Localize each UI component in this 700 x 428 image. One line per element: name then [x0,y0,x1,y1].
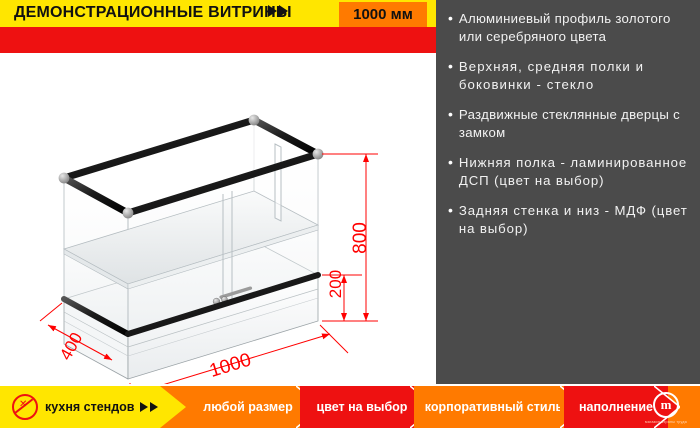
ribbon-label: корпоративный стиль [425,400,563,414]
logo-caption: магазин охраны труда [645,420,687,424]
dim-height-label: 800 [350,222,371,254]
list-item: • Задняя стенка и низ - МДФ (цвет на выб… [448,202,690,237]
size-badge: 1000 мм [338,1,428,28]
header-arrows-icon [268,5,288,17]
ribbon-label: кухня стендов [45,400,134,414]
ribbon-item-2[interactable]: цвет на выбор [300,386,424,428]
dim-lower-label: 200 [326,270,345,298]
dim-width-label: 1000 [207,350,254,382]
bullet-dot-icon: • [448,10,453,45]
ribbon-item-0[interactable]: ✕ кухня стендов [0,386,160,428]
bullet-dot-icon: • [448,154,453,189]
ribbon-item-3[interactable]: корпоративный стиль [414,386,574,428]
logo-mark-icon: m [653,392,679,418]
ribbon-label: любой размер [203,400,292,414]
size-badge-label: 1000 мм [353,6,413,23]
triangle-right-icon-2 [279,5,288,17]
feature-text: Верхняя, средняя полки и боковинки - сте… [459,58,690,93]
page-title: ДЕМОНСТРАЦИОННЫЕ ВИТРИНЫ [14,4,292,22]
feature-text: Задняя стенка и низ - МДФ (цвет на выбор… [459,202,690,237]
bullet-dot-icon: • [448,202,453,237]
feature-text: Раздвижные стеклянные дверцы с замком [459,106,690,141]
list-item: • Раздвижные стеклянные дверцы с замком [448,106,690,141]
feature-text: Нижняя полка - ламинированное ДСП (цвет … [459,154,690,189]
poster-root: ДЕМОНСТРАЦИОННЫЕ ВИТРИНЫ 1000 мм стеклян… [0,0,700,428]
bullet-dot-icon: • [448,106,453,141]
triangle-right-icon-1 [268,5,277,17]
features-sidebar: • Алюминиевый профиль золотого или сереб… [436,0,700,384]
product-drawing: 800 200 1000 400 [0,53,436,384]
ribbon-arrows-icon [140,402,158,412]
list-item: • Верхняя, средняя полки и боковинки - с… [448,58,690,93]
bullet-dot-icon: • [448,58,453,93]
feature-ribbon: ✕ кухня стендов любой размер цвет на выб… [0,386,700,428]
ribbon-label: цвет на выбор [317,400,408,414]
header-subtitle-bar: стеклянная витрина [0,27,436,53]
list-item: • Нижняя полка - ламинированное ДСП (цве… [448,154,690,189]
brand-logo[interactable]: m магазин охраны труда [640,389,692,427]
feature-text: Алюминиевый профиль золотого или серебря… [459,10,690,45]
list-item: • Алюминиевый профиль золотого или сереб… [448,10,690,45]
ribbon-item-1[interactable]: любой размер [186,386,310,428]
chevron-0-icon [160,386,186,428]
no-kitchen-icon: ✕ [12,394,38,420]
logo-letter: m [661,398,672,411]
